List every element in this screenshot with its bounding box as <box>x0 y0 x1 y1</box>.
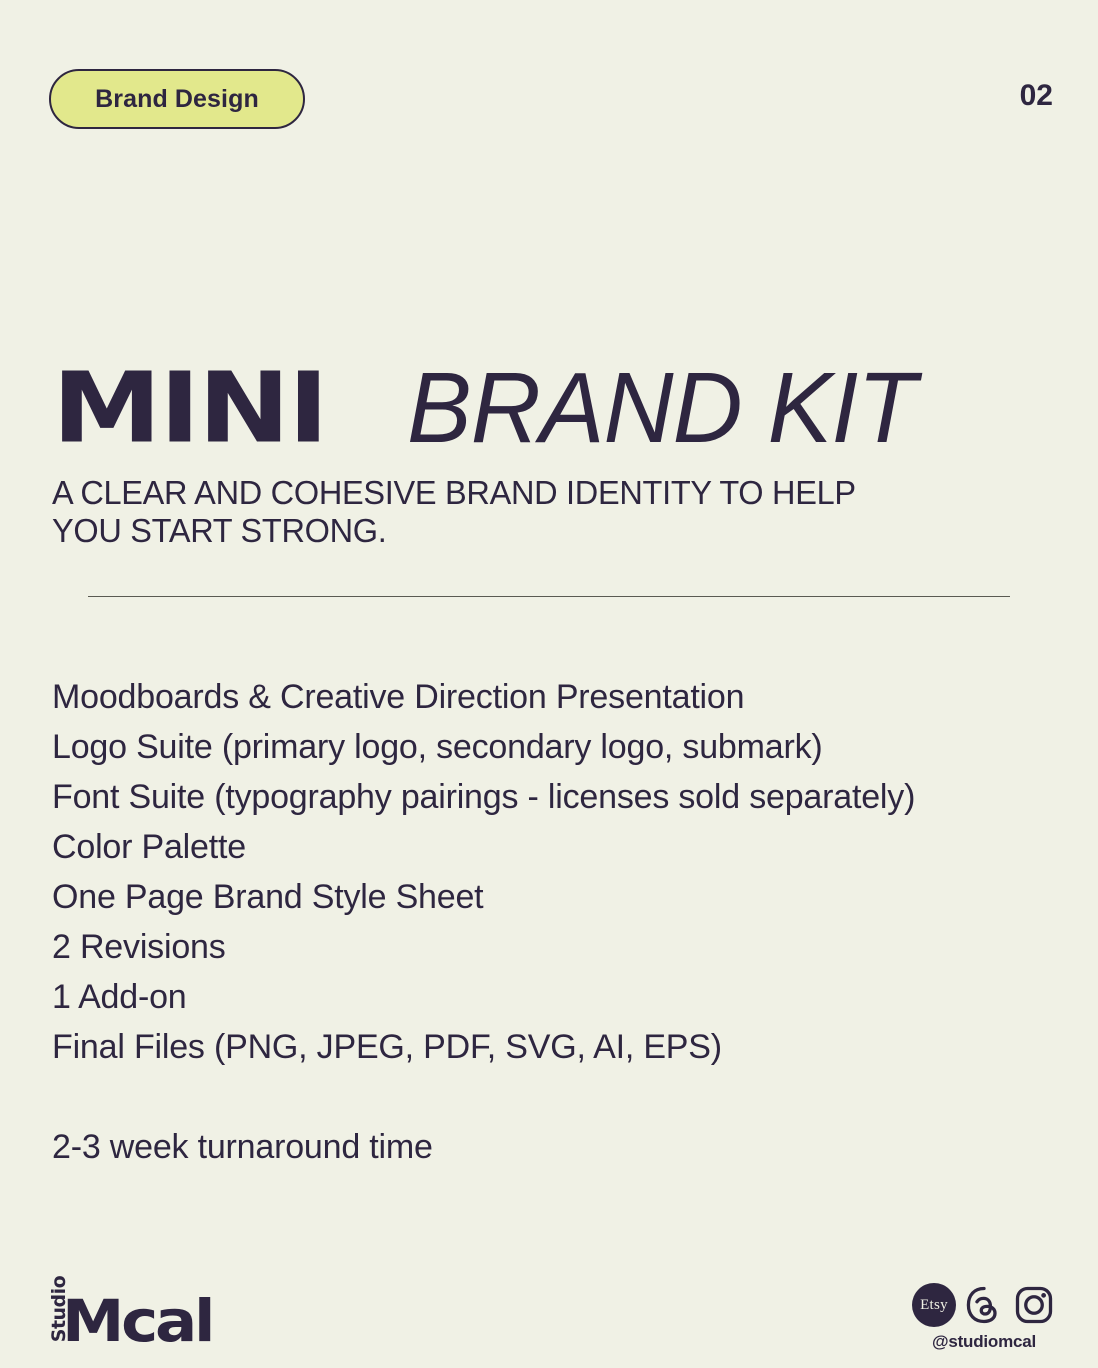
page-footer: Studio Mcal Etsy @studiomcal <box>0 1238 1098 1368</box>
list-item: Moodboards & Creative Direction Presenta… <box>52 672 1053 722</box>
social-handle: @studiomcal <box>932 1332 1036 1352</box>
studio-logo-name: Mcal <box>62 1297 212 1346</box>
category-badge-label: Brand Design <box>95 87 259 112</box>
studio-logo: Studio Mcal <box>48 1276 201 1346</box>
list-item: Font Suite (typography pairings - licens… <box>52 772 1053 822</box>
page-subtitle: A CLEAR AND COHESIVE BRAND IDENTITY TO H… <box>52 474 929 551</box>
page-header: Brand Design 02 <box>0 0 1098 160</box>
etsy-icon[interactable]: Etsy <box>912 1283 956 1327</box>
social-links: Etsy @studiomcal <box>912 1283 1056 1352</box>
threads-icon[interactable] <box>962 1283 1006 1327</box>
page-title-mini: MINI <box>52 361 327 458</box>
list-item: Final Files (PNG, JPEG, PDF, SVG, AI, EP… <box>52 1022 1053 1072</box>
title-block: MINI BRAND KIT A CLEAR AND COHESIVE BRAN… <box>52 358 1053 551</box>
page-title-brand-kit: BRAND KIT <box>407 358 916 458</box>
page-title: MINI BRAND KIT <box>52 358 1053 458</box>
etsy-icon-label: Etsy <box>920 1298 948 1313</box>
social-icon-row: Etsy <box>912 1283 1056 1327</box>
list-item: Logo Suite (primary logo, secondary logo… <box>52 722 1053 772</box>
section-divider <box>88 596 1010 597</box>
list-item: Color Palette <box>52 822 1053 872</box>
instagram-icon[interactable] <box>1012 1283 1056 1327</box>
list-item: 2 Revisions <box>52 922 1053 972</box>
category-badge: Brand Design <box>49 69 305 129</box>
list-item: 1 Add-on <box>52 972 1053 1022</box>
list-item: One Page Brand Style Sheet <box>52 872 1053 922</box>
turnaround-note: 2-3 week turnaround time <box>52 1122 1053 1172</box>
page-number: 02 <box>1020 81 1053 111</box>
deliverables-list: Moodboards & Creative Direction Presenta… <box>52 672 1053 1172</box>
